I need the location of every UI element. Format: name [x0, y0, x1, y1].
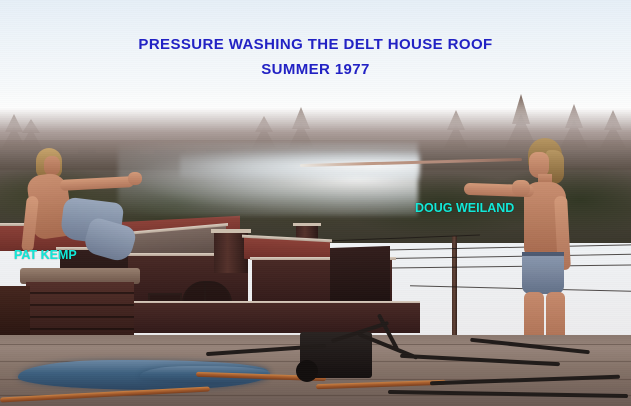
name-label-doug-weiland: DOUG WEILAND	[415, 202, 514, 215]
denim-shorts-right	[522, 252, 564, 294]
hand-left	[128, 172, 142, 185]
belt-right	[522, 252, 564, 256]
caption-title-line-1: PRESSURE WASHING THE DELT HOUSE ROOF	[0, 37, 631, 53]
photograph: PRESSURE WASHING THE DELT HOUSE ROOF SUM…	[0, 0, 631, 406]
caption-title-line-2: SUMMER 1977	[0, 62, 631, 78]
name-label-pat-kemp: PAT KEMP	[14, 249, 77, 262]
hand-right	[512, 180, 530, 196]
